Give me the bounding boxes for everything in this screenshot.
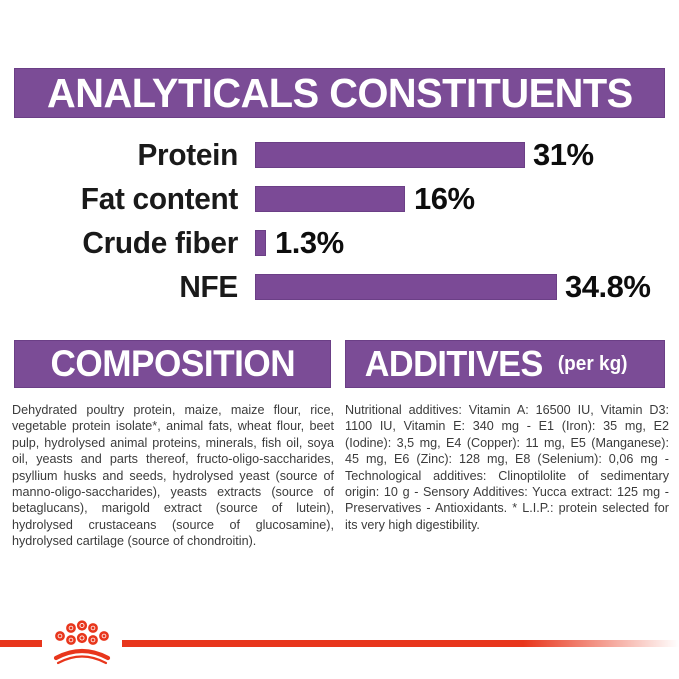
bar-value-fat-content: 16% bbox=[414, 181, 475, 217]
composition-header-banner: COMPOSITION bbox=[14, 340, 331, 388]
footer-brand-rule bbox=[0, 612, 679, 672]
chart-row: Crude fiber 1.3% bbox=[0, 221, 679, 265]
analyticals-header-title: ANALYTICALS CONSTITUENTS bbox=[47, 70, 633, 117]
footer-rule-right bbox=[122, 640, 679, 647]
royal-crown-paw-icon bbox=[46, 620, 118, 666]
additives-body-text: Nutritional additives: Vitamin A: 16500 … bbox=[345, 402, 669, 533]
bar-category-label-protein: Protein bbox=[19, 137, 238, 173]
chart-row: Protein 31% bbox=[0, 133, 679, 177]
bar-category-label-fat-content: Fat content bbox=[19, 181, 238, 217]
chart-row: NFE 34.8% bbox=[0, 265, 679, 309]
bar-nfe bbox=[255, 274, 557, 300]
additives-header-banner: ADDITIVES (per kg) bbox=[345, 340, 665, 388]
analyticals-bar-chart: Protein 31% Fat content 16% Crude fiber … bbox=[0, 133, 679, 308]
additives-header-title: ADDITIVES bbox=[365, 343, 543, 385]
composition-body-text: Dehydrated poultry protein, maize, maize… bbox=[12, 402, 334, 550]
chart-row: Fat content 16% bbox=[0, 177, 679, 221]
analyticals-header-banner: ANALYTICALS CONSTITUENTS bbox=[14, 68, 665, 118]
footer-rule-left bbox=[0, 640, 42, 647]
additives-header-subtitle: (per kg) bbox=[557, 353, 627, 376]
bar-fat-content bbox=[255, 186, 405, 212]
composition-header-title: COMPOSITION bbox=[50, 343, 295, 385]
bar-value-protein: 31% bbox=[533, 137, 594, 173]
bar-category-label-nfe: NFE bbox=[19, 269, 238, 305]
bar-protein bbox=[255, 142, 525, 168]
bar-value-crude-fiber: 1.3% bbox=[275, 225, 344, 261]
bar-crude-fiber bbox=[255, 230, 266, 256]
bar-category-label-crude-fiber: Crude fiber bbox=[19, 225, 238, 261]
bar-value-nfe: 34.8% bbox=[565, 269, 650, 305]
analyticals-panel: ANALYTICALS CONSTITUENTS Protein 31% Fat… bbox=[0, 0, 679, 679]
